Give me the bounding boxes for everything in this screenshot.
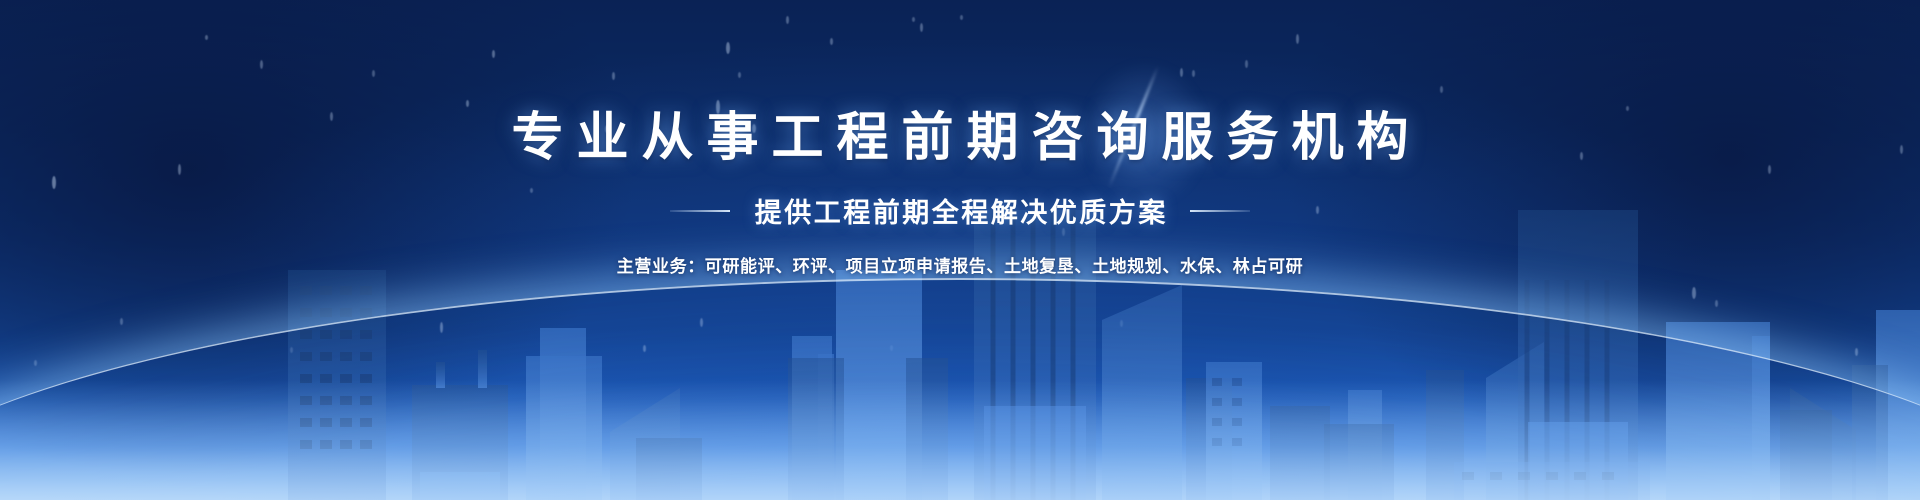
particle-dot	[1120, 320, 1123, 327]
banner-subtitle: 提供工程前期全程解决优质方案	[752, 191, 1168, 230]
horizon-glow	[0, 270, 1920, 500]
particle-dot	[1692, 287, 1696, 299]
particle-dot	[1855, 348, 1858, 356]
banner-subtitle-row: 提供工程前期全程解决优质方案	[0, 191, 1920, 230]
particle-dot	[700, 318, 703, 327]
ground-fade	[0, 380, 1920, 500]
horizon-arc-line	[0, 278, 1920, 500]
particle-dot	[440, 322, 443, 333]
decorative-dash-left-icon	[670, 210, 730, 212]
particle-dot	[890, 345, 893, 351]
skyline-left-cluster	[288, 270, 948, 500]
banner-tagline: 主营业务：可研能评、环评、项目立项申请报告、土地复垦、土地规划、水保、林占可研	[0, 230, 1920, 277]
particle-dot	[1715, 300, 1718, 307]
particle-dot	[290, 347, 293, 353]
particle-dot	[34, 360, 37, 366]
hero-banner: 专业从事工程前期咨询服务机构 提供工程前期全程解决优质方案 主营业务：可研能评、…	[0, 0, 1920, 500]
banner-content: 专业从事工程前期咨询服务机构 提供工程前期全程解决优质方案 主营业务：可研能评、…	[0, 0, 1920, 277]
banner-headline: 专业从事工程前期咨询服务机构	[0, 0, 1920, 169]
particle-dot	[643, 345, 646, 352]
particle-dot	[120, 318, 123, 325]
decorative-dash-right-icon	[1190, 210, 1250, 212]
